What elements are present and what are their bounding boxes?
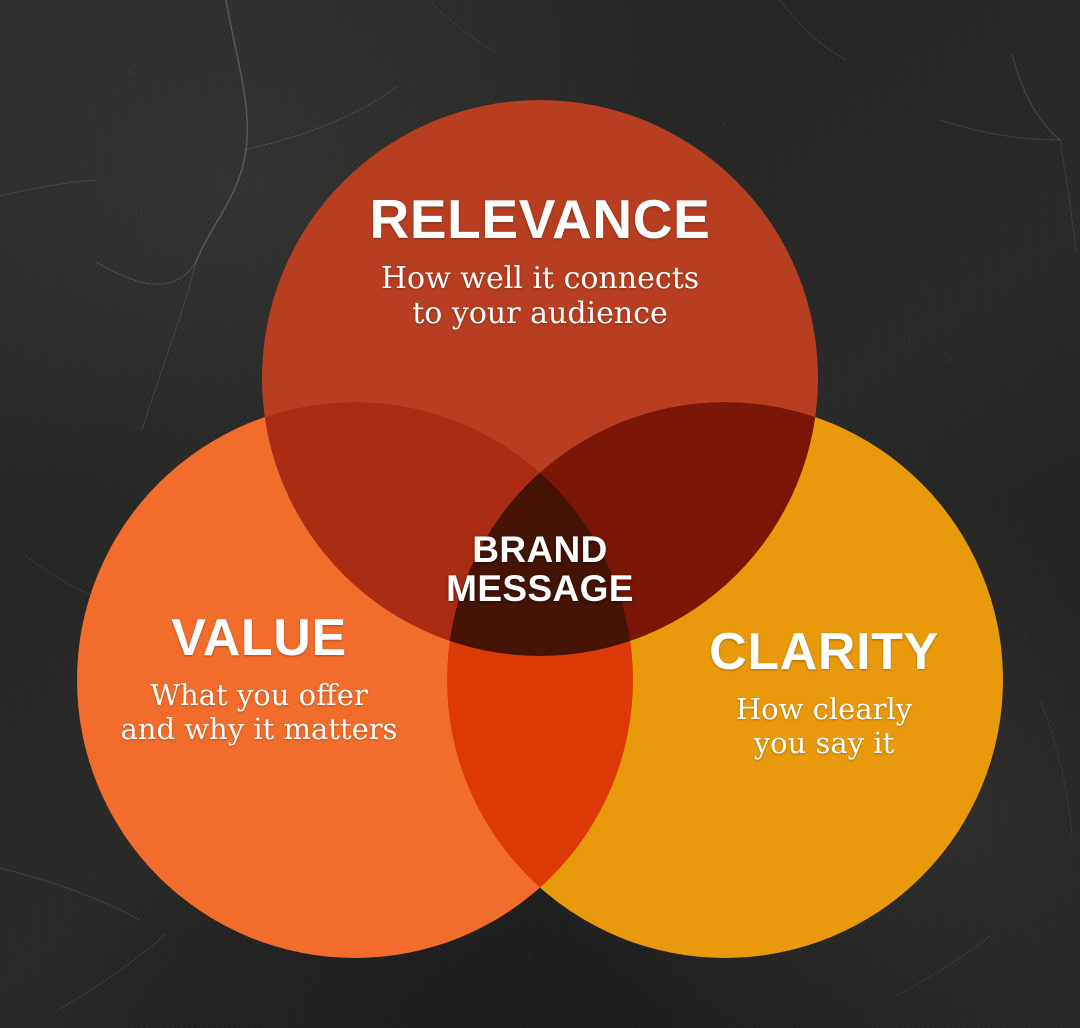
clarity-title: CLARITY [630,626,1018,678]
label-clarity: CLARITY How clearly you say it [630,626,1018,760]
value-subtitle-line-2: and why it matters [58,712,460,746]
value-title: VALUE [58,612,460,664]
relevance-subtitle-line-2: to your audience [240,296,840,331]
label-value: VALUE What you offer and why it matters [58,612,460,746]
clarity-subtitle-line-1: How clearly [630,692,1018,726]
brand-message-line-2: MESSAGE [400,569,680,608]
relevance-subtitle-line-1: How well it connects [240,261,840,296]
value-subtitle-line-1: What you offer [58,678,460,712]
brand-message-title: BRAND MESSAGE [400,530,680,608]
brand-message-line-1: BRAND [400,530,680,569]
clarity-subtitle: How clearly you say it [630,692,1018,760]
label-relevance: RELEVANCE How well it connects to your a… [240,192,840,332]
label-brand-message: BRAND MESSAGE [400,530,680,608]
value-subtitle: What you offer and why it matters [58,678,460,746]
venn-diagram-canvas: RELEVANCE How well it connects to your a… [0,0,1080,1028]
relevance-subtitle: How well it connects to your audience [240,261,840,332]
relevance-title: RELEVANCE [240,192,840,247]
clarity-subtitle-line-2: you say it [630,726,1018,760]
venn-circles [0,0,1080,1028]
